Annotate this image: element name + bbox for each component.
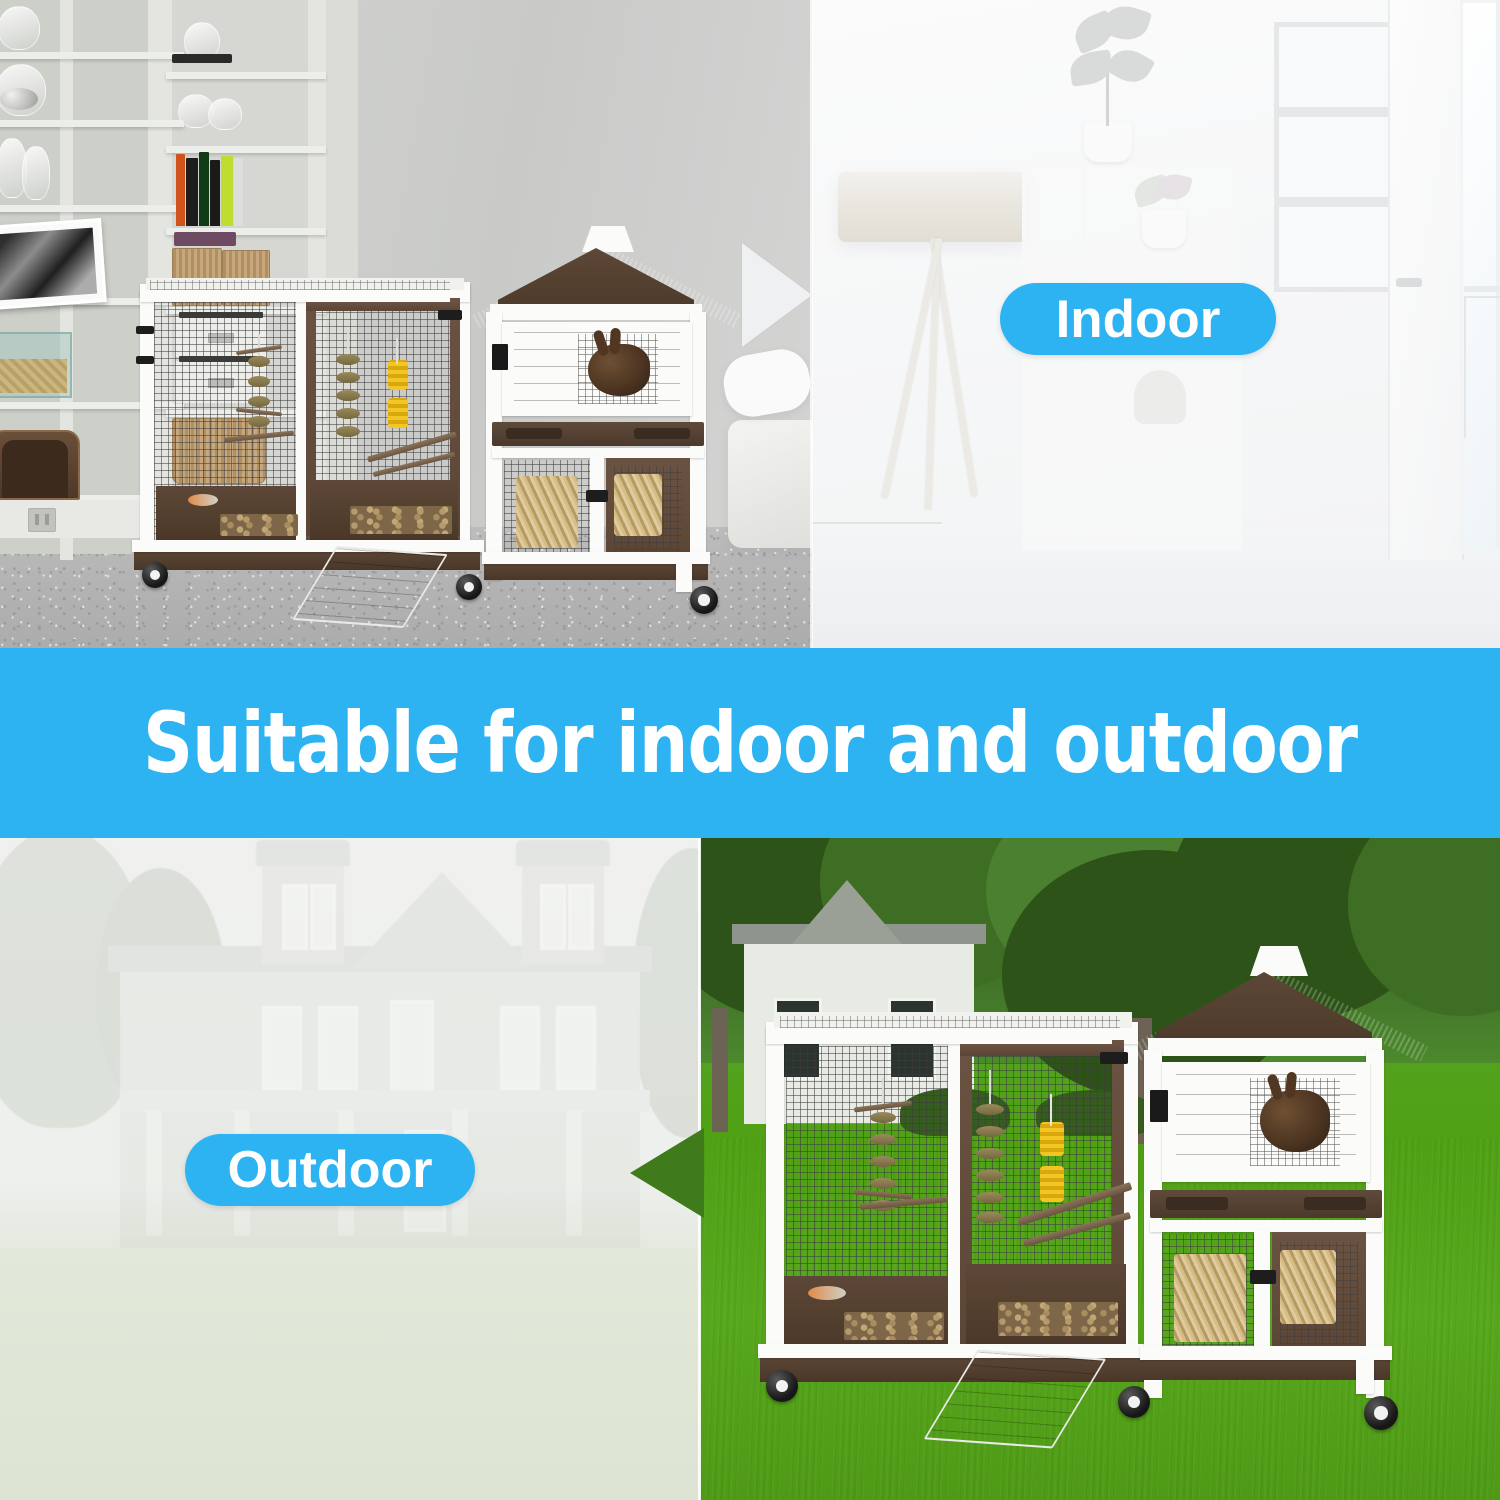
roof-ridge-cap <box>1250 946 1308 976</box>
hay-bundle <box>614 474 662 536</box>
hanging-chew-toy <box>248 352 270 448</box>
faded-window <box>318 1006 358 1090</box>
wall-outlet <box>28 508 56 532</box>
corn-toy <box>388 360 408 390</box>
run-door-rail-top <box>306 302 460 311</box>
toy-string <box>258 334 260 356</box>
shelf-board <box>0 205 184 212</box>
caster-wheel <box>142 562 168 588</box>
run-base-white-rail <box>132 540 484 552</box>
plant-pot <box>1084 122 1132 162</box>
faded-window <box>262 1006 302 1090</box>
cube-shelf-unit <box>1022 162 1242 550</box>
upper-door-hinge[interactable] <box>492 344 508 370</box>
book-spine <box>199 152 209 226</box>
run-door-latch[interactable] <box>1100 1052 1128 1064</box>
run-latch[interactable] <box>136 326 154 334</box>
carrot-treat <box>808 1286 846 1300</box>
badge-outdoor-label: Outdoor <box>227 1140 432 1200</box>
panel-outdoor-grass <box>700 838 1500 1500</box>
lower-door-latch[interactable] <box>1250 1270 1276 1284</box>
corn-toy <box>388 398 408 428</box>
faded-window <box>568 884 594 950</box>
run-door-latch[interactable] <box>438 310 462 320</box>
banner-headline: Suitable for indoor and outdoor <box>60 701 1440 785</box>
cabinet-post-right <box>690 312 706 580</box>
terrarium-contents <box>0 359 67 393</box>
pull-out-tray[interactable] <box>492 422 704 446</box>
pull-out-tray[interactable] <box>1150 1190 1382 1218</box>
shelf-board <box>166 72 326 79</box>
faded-window <box>310 884 336 950</box>
faded-lawn <box>0 1248 700 1500</box>
framed-photo <box>0 218 107 310</box>
outdoor-pointer-arrow-icon <box>630 1128 704 1218</box>
glass-terrarium <box>0 332 72 398</box>
cabinet-leg <box>1356 1360 1374 1394</box>
hay-bundle <box>1174 1254 1246 1342</box>
glass-door[interactable] <box>1460 0 1500 554</box>
lamp-cord <box>812 522 942 524</box>
corn-toy-string <box>1050 1094 1052 1126</box>
caster-wheel <box>456 574 482 600</box>
corn-toy <box>1040 1122 1064 1156</box>
lower-door-stile <box>1254 1230 1270 1356</box>
cabinet-base-white-rail <box>482 552 710 564</box>
glass-vase <box>0 6 40 50</box>
caster-wheel <box>1118 1386 1150 1418</box>
wall-picture-frame <box>1274 112 1394 202</box>
run-top-mesh <box>780 1016 1120 1028</box>
tray-grip[interactable] <box>1304 1197 1366 1210</box>
rabbit-ear <box>1285 1072 1297 1099</box>
shelf-divider <box>1026 458 1238 462</box>
decor-tray <box>172 54 232 63</box>
shelf-divider <box>1026 362 1238 366</box>
shelf-divider <box>1082 166 1086 546</box>
faded-window <box>390 1000 434 1092</box>
rabbit <box>1260 1090 1330 1152</box>
lower-door-stile <box>590 456 604 560</box>
panel-indoor-room <box>0 0 812 648</box>
tray-grip[interactable] <box>1166 1197 1228 1210</box>
shelf-divider <box>1026 254 1238 258</box>
faded-window <box>500 1006 540 1090</box>
run-post-left <box>766 1028 784 1378</box>
rabbit-hutch-outdoor <box>752 904 1452 1464</box>
hanging-chew-toy <box>976 1100 1004 1230</box>
corn-toy-string <box>396 338 398 364</box>
glass-bowl <box>208 98 242 130</box>
tray-grip[interactable] <box>634 428 690 439</box>
faded-dormer-roof <box>516 840 610 866</box>
book-spine <box>234 158 243 226</box>
tray-grip[interactable] <box>506 428 562 439</box>
book-spine <box>186 158 198 226</box>
faded-porch-roof <box>120 1090 650 1112</box>
corn-toy <box>1040 1166 1064 1202</box>
run-latch[interactable] <box>136 356 154 364</box>
run-top-mesh <box>150 280 450 290</box>
gable-bottom-trim <box>1148 1038 1382 1056</box>
shelf-board <box>0 120 184 127</box>
small-plant-pot <box>1142 210 1186 248</box>
rabbit-ear <box>609 328 621 355</box>
cabinet-leg <box>676 564 692 592</box>
faded-window <box>540 884 566 950</box>
caster-wheel <box>766 1370 798 1402</box>
plant-leaf <box>1105 42 1156 90</box>
wooden-box-inner <box>2 440 68 498</box>
lamp-shade <box>838 172 1026 242</box>
roof-ridge-cap <box>582 226 634 252</box>
book-spine <box>221 156 233 226</box>
glass-vase <box>22 146 50 200</box>
wall-picture-frame <box>1274 202 1394 292</box>
book-spine <box>176 154 185 226</box>
badge-indoor-label: Indoor <box>1056 289 1221 350</box>
faded-dormer-roof <box>256 840 350 866</box>
window-mullion <box>1496 0 1500 548</box>
door-handle[interactable] <box>1396 278 1422 287</box>
gable-bottom-trim <box>490 304 702 320</box>
railing-top-rail <box>1464 286 1500 292</box>
shelf-decor-object <box>1134 370 1186 424</box>
run-base-white-rail <box>758 1344 1150 1358</box>
rabbit <box>588 344 650 396</box>
tree-trunk <box>712 1008 728 1132</box>
shelf-board <box>0 52 184 59</box>
bedding-pellets <box>220 514 298 536</box>
decor-sphere-cluster <box>0 88 38 110</box>
carrot-treat <box>188 494 218 506</box>
product-marketing-poster: Suitable for indoor and outdoor <box>0 0 1500 1500</box>
upper-door-hinge[interactable] <box>1150 1090 1168 1122</box>
book-spine <box>210 160 220 226</box>
hay-bundle <box>1280 1250 1336 1324</box>
balcony-railing <box>1464 296 1500 438</box>
rabbit-hutch-indoor <box>120 218 800 630</box>
banner: Suitable for indoor and outdoor <box>0 648 1500 838</box>
lower-door-latch[interactable] <box>586 490 608 502</box>
cabinet-base-white-rail <box>1140 1346 1392 1360</box>
faded-window <box>556 1006 596 1090</box>
wooden-decor-box <box>0 430 80 500</box>
bedding-pellets <box>998 1302 1118 1336</box>
hay-bundle <box>516 476 578 548</box>
toy-string <box>989 1070 991 1104</box>
caster-wheel <box>1364 1396 1398 1430</box>
bedding-pellets <box>350 506 452 534</box>
caster-wheel <box>690 586 718 614</box>
faded-porch-column <box>146 1110 162 1236</box>
badge-outdoor: Outdoor <box>185 1134 475 1206</box>
faded-window <box>282 884 308 950</box>
toy-string <box>347 330 349 354</box>
pouf-stool <box>728 420 812 548</box>
wall-picture-frame <box>1274 22 1394 112</box>
bedding-pellets <box>844 1312 944 1340</box>
badge-indoor: Indoor <box>1000 283 1276 355</box>
hanging-chew-toy <box>336 350 360 450</box>
photo-image <box>0 228 97 301</box>
faded-porch-column <box>566 1110 582 1236</box>
indoor-pointer-arrow-icon <box>742 243 812 347</box>
shelf-board <box>166 146 326 153</box>
